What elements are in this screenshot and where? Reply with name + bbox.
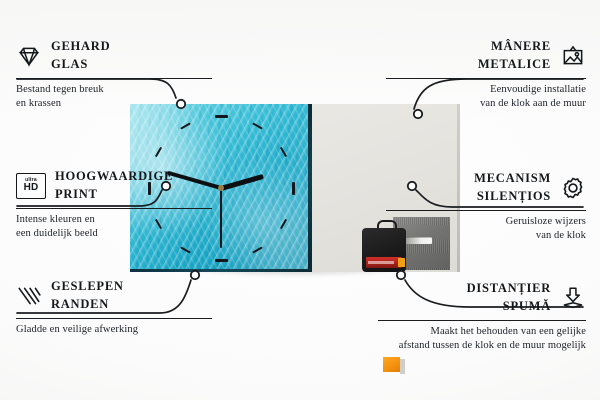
feature-rule xyxy=(16,318,212,319)
feature-sub-line2: van de klok xyxy=(386,229,586,243)
feature-title-line2: GLAS xyxy=(51,56,110,74)
feature-head: GEHARD GLAS xyxy=(16,38,212,74)
diamond-icon xyxy=(16,43,42,69)
feature-gehard-glas: GEHARD GLAS Bestand tegen breuk en krass… xyxy=(16,38,212,111)
feature-head: MECANISM SILENȚIOS xyxy=(386,170,586,206)
feature-head: GESLEPEN RANDEN xyxy=(16,278,212,314)
feature-title: HOOGWAARDIGE PRINT xyxy=(55,168,173,204)
feature-head: DISTANȚIER SPUMĂ xyxy=(378,280,586,316)
feature-title-line1: GEHARD xyxy=(51,38,110,56)
feature-subtitle: Geruisloze wijzers van de klok xyxy=(386,215,586,244)
feature-rule xyxy=(16,208,212,209)
feature-subtitle: Bestand tegen breuk en krassen xyxy=(16,83,212,112)
feature-rule xyxy=(378,320,586,321)
connector-dot-manere-metalice xyxy=(414,110,422,118)
feature-title: MÂNERE METALICE xyxy=(478,38,551,74)
spacer-arrow-icon xyxy=(560,285,586,311)
feature-title-line1: HOOGWAARDIGE xyxy=(55,168,173,186)
feature-hoogwaardige-print: ultra HD HOOGWAARDIGE PRINT Intense kleu… xyxy=(16,168,212,241)
feature-sub-line1: Maakt het behouden van een gelijke xyxy=(378,325,586,339)
connector-dot-distantier-spuma xyxy=(397,271,405,279)
feature-title-line2: METALICE xyxy=(478,56,551,74)
feature-title-line2: RANDEN xyxy=(51,296,124,314)
feature-title-line1: DISTANȚIER xyxy=(467,280,551,298)
infographic-canvas: GEHARD GLAS Bestand tegen breuk en krass… xyxy=(0,0,600,400)
feature-title-line1: MECANISM xyxy=(474,170,551,188)
feature-rule xyxy=(386,78,586,79)
feature-title-line2: PRINT xyxy=(55,186,173,204)
feature-sub-line1: Eenvoudige installatie xyxy=(386,83,586,97)
feature-title: DISTANȚIER SPUMĂ xyxy=(467,280,551,316)
feature-rule xyxy=(16,78,212,79)
picture-hanging-icon xyxy=(560,43,586,69)
feature-sub-line2: van de klok aan de muur xyxy=(386,97,586,111)
feature-sub-line2: een duidelijk beeld xyxy=(16,227,212,241)
feature-mecanism-silentios: MECANISM SILENȚIOS Geruisloze wijzers va… xyxy=(386,170,586,243)
ultra-hd-icon-bottom: HD xyxy=(24,183,39,194)
ultra-hd-icon: ultra HD xyxy=(16,173,46,199)
feature-title-line2: SILENȚIOS xyxy=(474,188,551,206)
feature-sub-line2: en krassen xyxy=(16,97,212,111)
gear-icon xyxy=(560,175,586,201)
feature-subtitle: Intense kleuren en een duidelijk beeld xyxy=(16,213,212,242)
feature-sub-line1: Intense kleuren en xyxy=(16,213,212,227)
feature-sub-line1: Bestand tegen breuk xyxy=(16,83,212,97)
feature-manere-metalice: MÂNERE METALICE Eenvoudige installatie v… xyxy=(386,38,586,111)
feature-subtitle: Maakt het behouden van een gelijke afsta… xyxy=(378,325,586,354)
feature-sub-line2: afstand tussen de klok en de muur mogeli… xyxy=(378,339,586,353)
feature-distantier-spuma: DISTANȚIER SPUMĂ Maakt het behouden van … xyxy=(378,280,586,353)
feature-title-line2: SPUMĂ xyxy=(467,298,551,316)
feature-rule xyxy=(386,210,586,211)
diagonal-lines-icon xyxy=(16,283,42,309)
feature-title: GESLEPEN RANDEN xyxy=(51,278,124,314)
feature-subtitle: Eenvoudige installatie van de klok aan d… xyxy=(386,83,586,112)
feature-title-line1: GESLEPEN xyxy=(51,278,124,296)
feature-geslepen-randen: GESLEPEN RANDEN Gladde en veilige afwerk… xyxy=(16,278,212,337)
feature-sub-line1: Geruisloze wijzers xyxy=(386,215,586,229)
feature-head: ultra HD HOOGWAARDIGE PRINT xyxy=(16,168,212,204)
feature-title-line1: MÂNERE xyxy=(478,38,551,56)
feature-sub-line1: Gladde en veilige afwerking xyxy=(16,323,212,337)
feature-head: MÂNERE METALICE xyxy=(386,38,586,74)
feature-title: GEHARD GLAS xyxy=(51,38,110,74)
feature-subtitle: Gladde en veilige afwerking xyxy=(16,323,212,337)
feature-title: MECANISM SILENȚIOS xyxy=(474,170,551,206)
